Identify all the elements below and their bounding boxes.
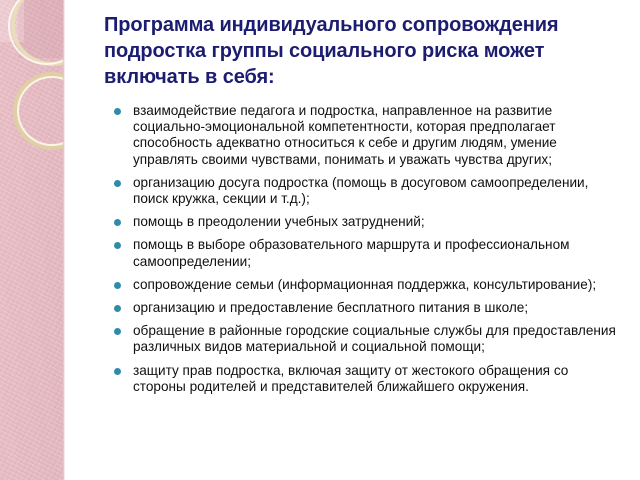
list-item: организацию досуга подростка (помощь в д…	[112, 175, 624, 207]
slide: Программа индивидуального сопровождения …	[0, 0, 640, 480]
list-item: обращение в районные городские социальны…	[112, 323, 624, 355]
list-item: взаимодействие педагога и подростка, нап…	[112, 103, 624, 168]
band-edge	[63, 0, 65, 480]
list-item: сопровождение семьи (информационная подд…	[112, 277, 624, 293]
decorative-circle-white-top-icon	[8, 0, 65, 65]
list-item: организацию и предоставление бесплатного…	[112, 300, 624, 316]
decorative-side-band	[0, 0, 65, 480]
list-item: защиту прав подростка, включая защиту от…	[112, 363, 624, 395]
list-item: помощь в преодолении учебных затруднений…	[112, 214, 624, 230]
list-item: помощь в выборе образовательного маршрут…	[112, 237, 624, 269]
bullet-list: взаимодействие педагога и подростка, нап…	[112, 103, 624, 402]
slide-title: Программа индивидуального сопровождения …	[104, 12, 620, 90]
